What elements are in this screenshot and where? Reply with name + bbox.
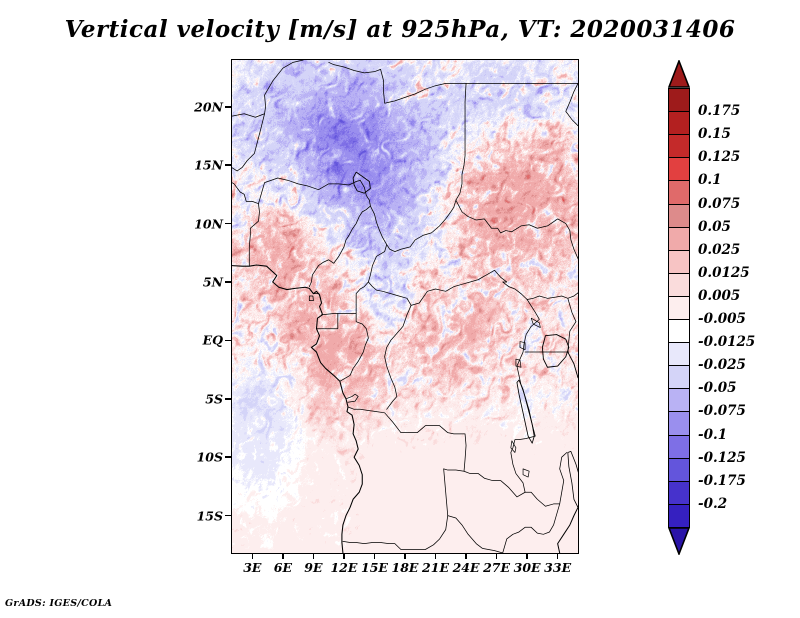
colorbar-swatch (668, 134, 690, 159)
colorbar-label: -0.0125 (698, 334, 755, 350)
x-axis-tick (282, 553, 284, 559)
colorbar-swatch (668, 204, 690, 229)
credit-text: GrADS: IGES/COLA (5, 598, 112, 609)
colorbar-swatch (668, 157, 690, 182)
colorbar-swatch (668, 458, 690, 483)
y-axis-label: 15N (194, 158, 223, 173)
x-axis-label: 15E (361, 560, 388, 575)
colorbar-extend-top (668, 60, 690, 88)
y-axis-tick (225, 106, 231, 108)
colorbar-label: -0.075 (698, 403, 746, 419)
x-axis-label: 3E (243, 560, 261, 575)
y-axis-tick (225, 515, 231, 517)
colorbar-label: 0.025 (698, 242, 740, 258)
y-axis-tick (225, 398, 231, 400)
colorbar-label: -0.125 (698, 450, 746, 466)
y-axis-label: 10N (194, 216, 223, 231)
colorbar: 0.1750.150.1250.10.0750.050.0250.01250.0… (668, 60, 788, 555)
x-axis-tick (557, 553, 559, 559)
colorbar-label: 0.1 (698, 172, 722, 188)
y-axis-label: EQ (203, 333, 223, 348)
colorbar-label: -0.1 (698, 427, 727, 443)
colorbar-label: 0.175 (698, 103, 740, 119)
colorbar-label: 0.0125 (698, 265, 750, 281)
colorbar-swatch (668, 319, 690, 344)
y-axis-tick (225, 340, 231, 342)
colorbar-swatch (668, 111, 690, 136)
map-plot-area: 20N15N10N5NEQ5S10S15S 3E6E9E12E15E18E21E… (232, 60, 578, 553)
colorbar-extend-bottom (668, 527, 690, 555)
colorbar-label: -0.2 (698, 496, 727, 512)
colorbar-swatch (668, 296, 690, 321)
colorbar-label: -0.025 (698, 357, 746, 373)
colorbar-swatch (668, 342, 690, 367)
colorbar-label: -0.05 (698, 380, 736, 396)
x-axis-tick (496, 553, 498, 559)
colorbar-label: -0.005 (698, 311, 746, 327)
colorbar-swatch (668, 365, 690, 390)
x-axis-label: 9E (304, 560, 322, 575)
colorbar-swatch (668, 411, 690, 436)
y-axis-tick (225, 223, 231, 225)
y-axis-tick (225, 164, 231, 166)
colorbar-swatch (668, 388, 690, 413)
x-axis-label: 33E (544, 560, 571, 575)
x-axis-tick (374, 553, 376, 559)
y-axis-label: 5N (203, 274, 223, 289)
colorbar-swatch (668, 504, 690, 529)
x-axis-label: 27E (483, 560, 510, 575)
y-axis-tick (225, 281, 231, 283)
colorbar-label: 0.005 (698, 288, 740, 304)
x-axis-label: 21E (422, 560, 449, 575)
colorbar-label: -0.175 (698, 473, 746, 489)
colorbar-swatch (668, 273, 690, 298)
x-axis-label: 6E (274, 560, 292, 575)
colorbar-label: 0.15 (698, 126, 731, 142)
x-axis-label: 30E (514, 560, 541, 575)
x-axis-tick (313, 553, 315, 559)
colorbar-label: 0.05 (698, 219, 731, 235)
x-axis-label: 24E (453, 560, 480, 575)
y-axis-label: 15S (197, 508, 223, 523)
x-axis-tick (526, 553, 528, 559)
colorbar-swatch (668, 435, 690, 460)
x-axis-label: 18E (392, 560, 419, 575)
page-title: Vertical velocity [m/s] at 925hPa, VT: 2… (0, 16, 800, 43)
map-outlines (232, 60, 578, 553)
colorbar-swatch (668, 88, 690, 113)
x-axis-tick (404, 553, 406, 559)
x-axis-tick (252, 553, 254, 559)
colorbar-label: 0.075 (698, 196, 740, 212)
colorbar-swatch (668, 250, 690, 275)
colorbar-swatch (668, 481, 690, 506)
y-axis-label: 5S (205, 391, 223, 406)
y-axis-label: 10S (197, 450, 223, 465)
x-axis-tick (343, 553, 345, 559)
x-axis-label: 12E (330, 560, 357, 575)
colorbar-swatch (668, 227, 690, 252)
x-axis-tick (435, 553, 437, 559)
y-axis-tick (225, 456, 231, 458)
colorbar-swatch (668, 180, 690, 205)
y-axis-label: 20N (194, 99, 223, 114)
x-axis-tick (465, 553, 467, 559)
colorbar-label: 0.125 (698, 149, 740, 165)
